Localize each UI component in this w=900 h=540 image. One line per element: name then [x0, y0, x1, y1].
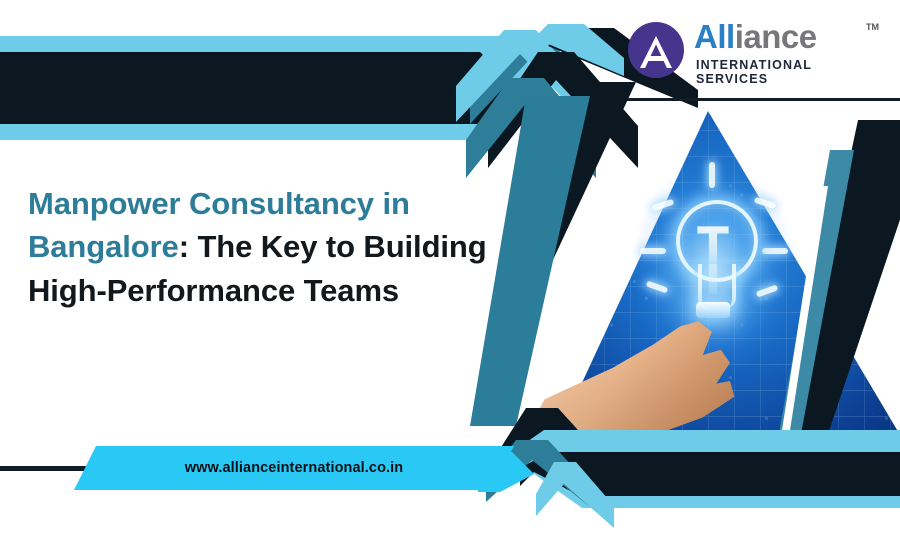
- logo-underline-rule: [600, 98, 900, 101]
- alliance-logo-mark-icon: [628, 22, 684, 78]
- footer-url-text[interactable]: www.allianceinternational.co.in: [74, 446, 514, 490]
- light-ray-icon: [709, 162, 715, 188]
- logo-word-a: A: [694, 18, 717, 55]
- marketing-banner: Manpower Consultancy in Bangalore: The K…: [0, 0, 900, 540]
- light-ray-icon: [640, 248, 666, 254]
- top-left-dark-band: [0, 52, 518, 124]
- logo-a-glyph-icon: [640, 36, 672, 68]
- light-ray-icon: [762, 248, 788, 254]
- logo-word-ll: ll: [717, 18, 734, 55]
- page-title: Manpower Consultancy in Bangalore: The K…: [28, 182, 498, 312]
- lightbulb-base-icon: [696, 302, 730, 318]
- trademark-symbol: TM: [866, 22, 879, 32]
- logo-subtitle: INTERNATIONAL SERVICES: [696, 58, 886, 86]
- logo-a-crossbar-icon: [648, 56, 664, 61]
- brand-logo[interactable]: Alliance TM INTERNATIONAL SERVICES: [628, 18, 886, 84]
- logo-word-iance: iance: [735, 18, 817, 55]
- logo-wordmark: Alliance: [694, 20, 817, 53]
